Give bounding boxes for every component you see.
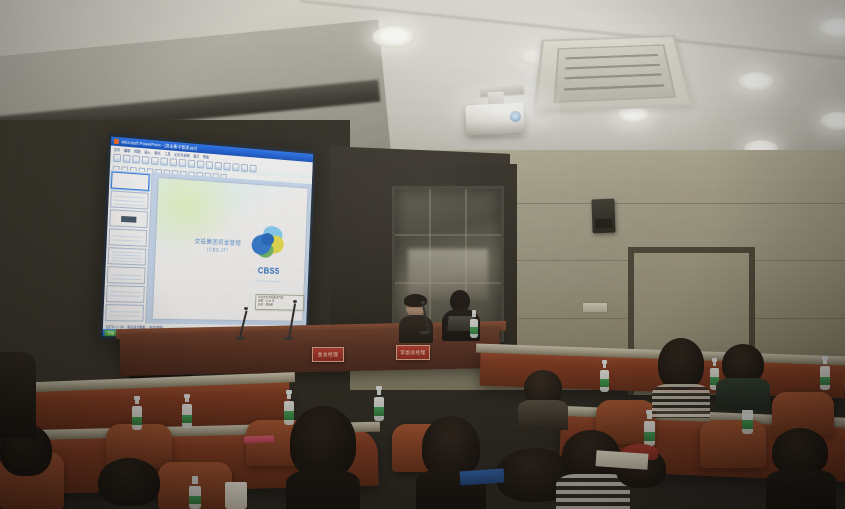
audience-member — [654, 338, 708, 416]
slide-thumbnail[interactable] — [108, 247, 147, 265]
slide-thumbnail[interactable] — [109, 209, 148, 228]
menu-view[interactable]: 视图 — [134, 148, 141, 153]
audience-member — [92, 458, 164, 509]
foreground-chair[interactable] — [0, 352, 36, 438]
powerpoint-workspace: 交投集团资金管理 （CBS-JT） CBS5 Cash Bank Solutio… — [103, 169, 312, 325]
projector-glow — [440, 76, 560, 136]
light-switch[interactable] — [582, 302, 608, 313]
audience-member — [286, 406, 360, 509]
zoom-icon[interactable] — [241, 164, 248, 172]
paste-icon[interactable] — [188, 160, 196, 168]
slide-thumbnail[interactable] — [111, 171, 150, 190]
audience-body — [716, 378, 770, 410]
menu-format[interactable]: 格式 — [154, 150, 161, 155]
cut-icon[interactable] — [170, 158, 178, 166]
slide-thumbnail[interactable] — [105, 304, 144, 321]
nameplate-right: 李副总经理 — [396, 345, 430, 360]
spellcheck-icon[interactable] — [160, 157, 168, 165]
ceiling-downlight — [372, 26, 416, 48]
audience-member — [718, 344, 768, 406]
redo-icon[interactable] — [206, 161, 213, 169]
water-bottle[interactable] — [132, 398, 142, 430]
powerpoint-app-icon — [114, 139, 119, 144]
menu-insert[interactable]: 插入 — [144, 149, 151, 154]
conference-room-photo: Microsoft PowerPoint - [资金集中管理.ppt] 文件 编… — [0, 0, 845, 509]
slide-thumbnail[interactable] — [110, 190, 149, 209]
wall-speaker — [591, 199, 615, 234]
audience-chair[interactable] — [700, 420, 766, 468]
audience-body — [766, 470, 836, 509]
help-icon[interactable] — [249, 165, 256, 173]
open-icon[interactable] — [123, 154, 131, 163]
slide-thumbnail[interactable] — [108, 228, 147, 247]
table-microphone[interactable] — [418, 300, 432, 334]
audience-body — [518, 400, 568, 430]
table-icon[interactable] — [223, 163, 230, 171]
water-bottle[interactable] — [374, 388, 384, 421]
paper-cup[interactable] — [225, 482, 247, 509]
audience-hair — [98, 458, 160, 506]
audience-member — [420, 416, 482, 509]
water-bottle[interactable] — [470, 312, 478, 338]
menu-file[interactable]: 文件 — [114, 146, 121, 151]
logo-swoosh-mark — [248, 221, 291, 265]
ac-vent-inner — [554, 44, 676, 103]
logo-wordmark: CBS5 — [239, 265, 297, 276]
preview-icon[interactable] — [151, 157, 159, 165]
audience-hair — [422, 416, 480, 478]
audience-hair — [772, 428, 828, 476]
cloud-logo-icon: CBS5 Cash Bank Solution — [238, 219, 299, 297]
audience-body — [286, 470, 360, 509]
water-bottle[interactable] — [189, 478, 201, 509]
save-icon[interactable] — [132, 155, 140, 163]
undo-icon[interactable] — [197, 160, 204, 168]
chart-icon[interactable] — [232, 163, 239, 171]
paper-sheet[interactable] — [244, 435, 274, 443]
audience-member — [520, 370, 566, 426]
water-bottle[interactable] — [820, 358, 830, 390]
menu-help[interactable]: 帮助 — [203, 154, 209, 159]
table-microphone[interactable] — [282, 300, 298, 340]
audience-hair — [658, 338, 704, 390]
slide-thumbnail[interactable] — [107, 266, 146, 284]
audience-hair — [290, 406, 356, 478]
copy-icon[interactable] — [179, 159, 187, 167]
water-bottle[interactable] — [600, 362, 609, 392]
slide-thumbnail[interactable] — [106, 285, 145, 303]
new-icon[interactable] — [113, 154, 121, 163]
audience-member — [770, 428, 832, 509]
menu-edit[interactable]: 编辑 — [124, 147, 131, 152]
ceiling-downlight — [737, 72, 775, 91]
speaker-grille — [595, 219, 612, 228]
logo-tagline: Cash Bank Solution — [239, 279, 297, 285]
menu-window[interactable]: 窗口 — [193, 153, 199, 158]
slide-thumbnail-pane[interactable] — [103, 169, 152, 323]
table-microphone[interactable] — [234, 306, 250, 340]
print-icon[interactable] — [142, 156, 150, 164]
nameplate-left: 金总经理 — [312, 347, 344, 362]
menu-tools[interactable]: 工具 — [164, 150, 170, 155]
water-bottle[interactable] — [182, 396, 192, 428]
audience-body — [652, 384, 710, 418]
link-icon[interactable] — [215, 162, 222, 170]
